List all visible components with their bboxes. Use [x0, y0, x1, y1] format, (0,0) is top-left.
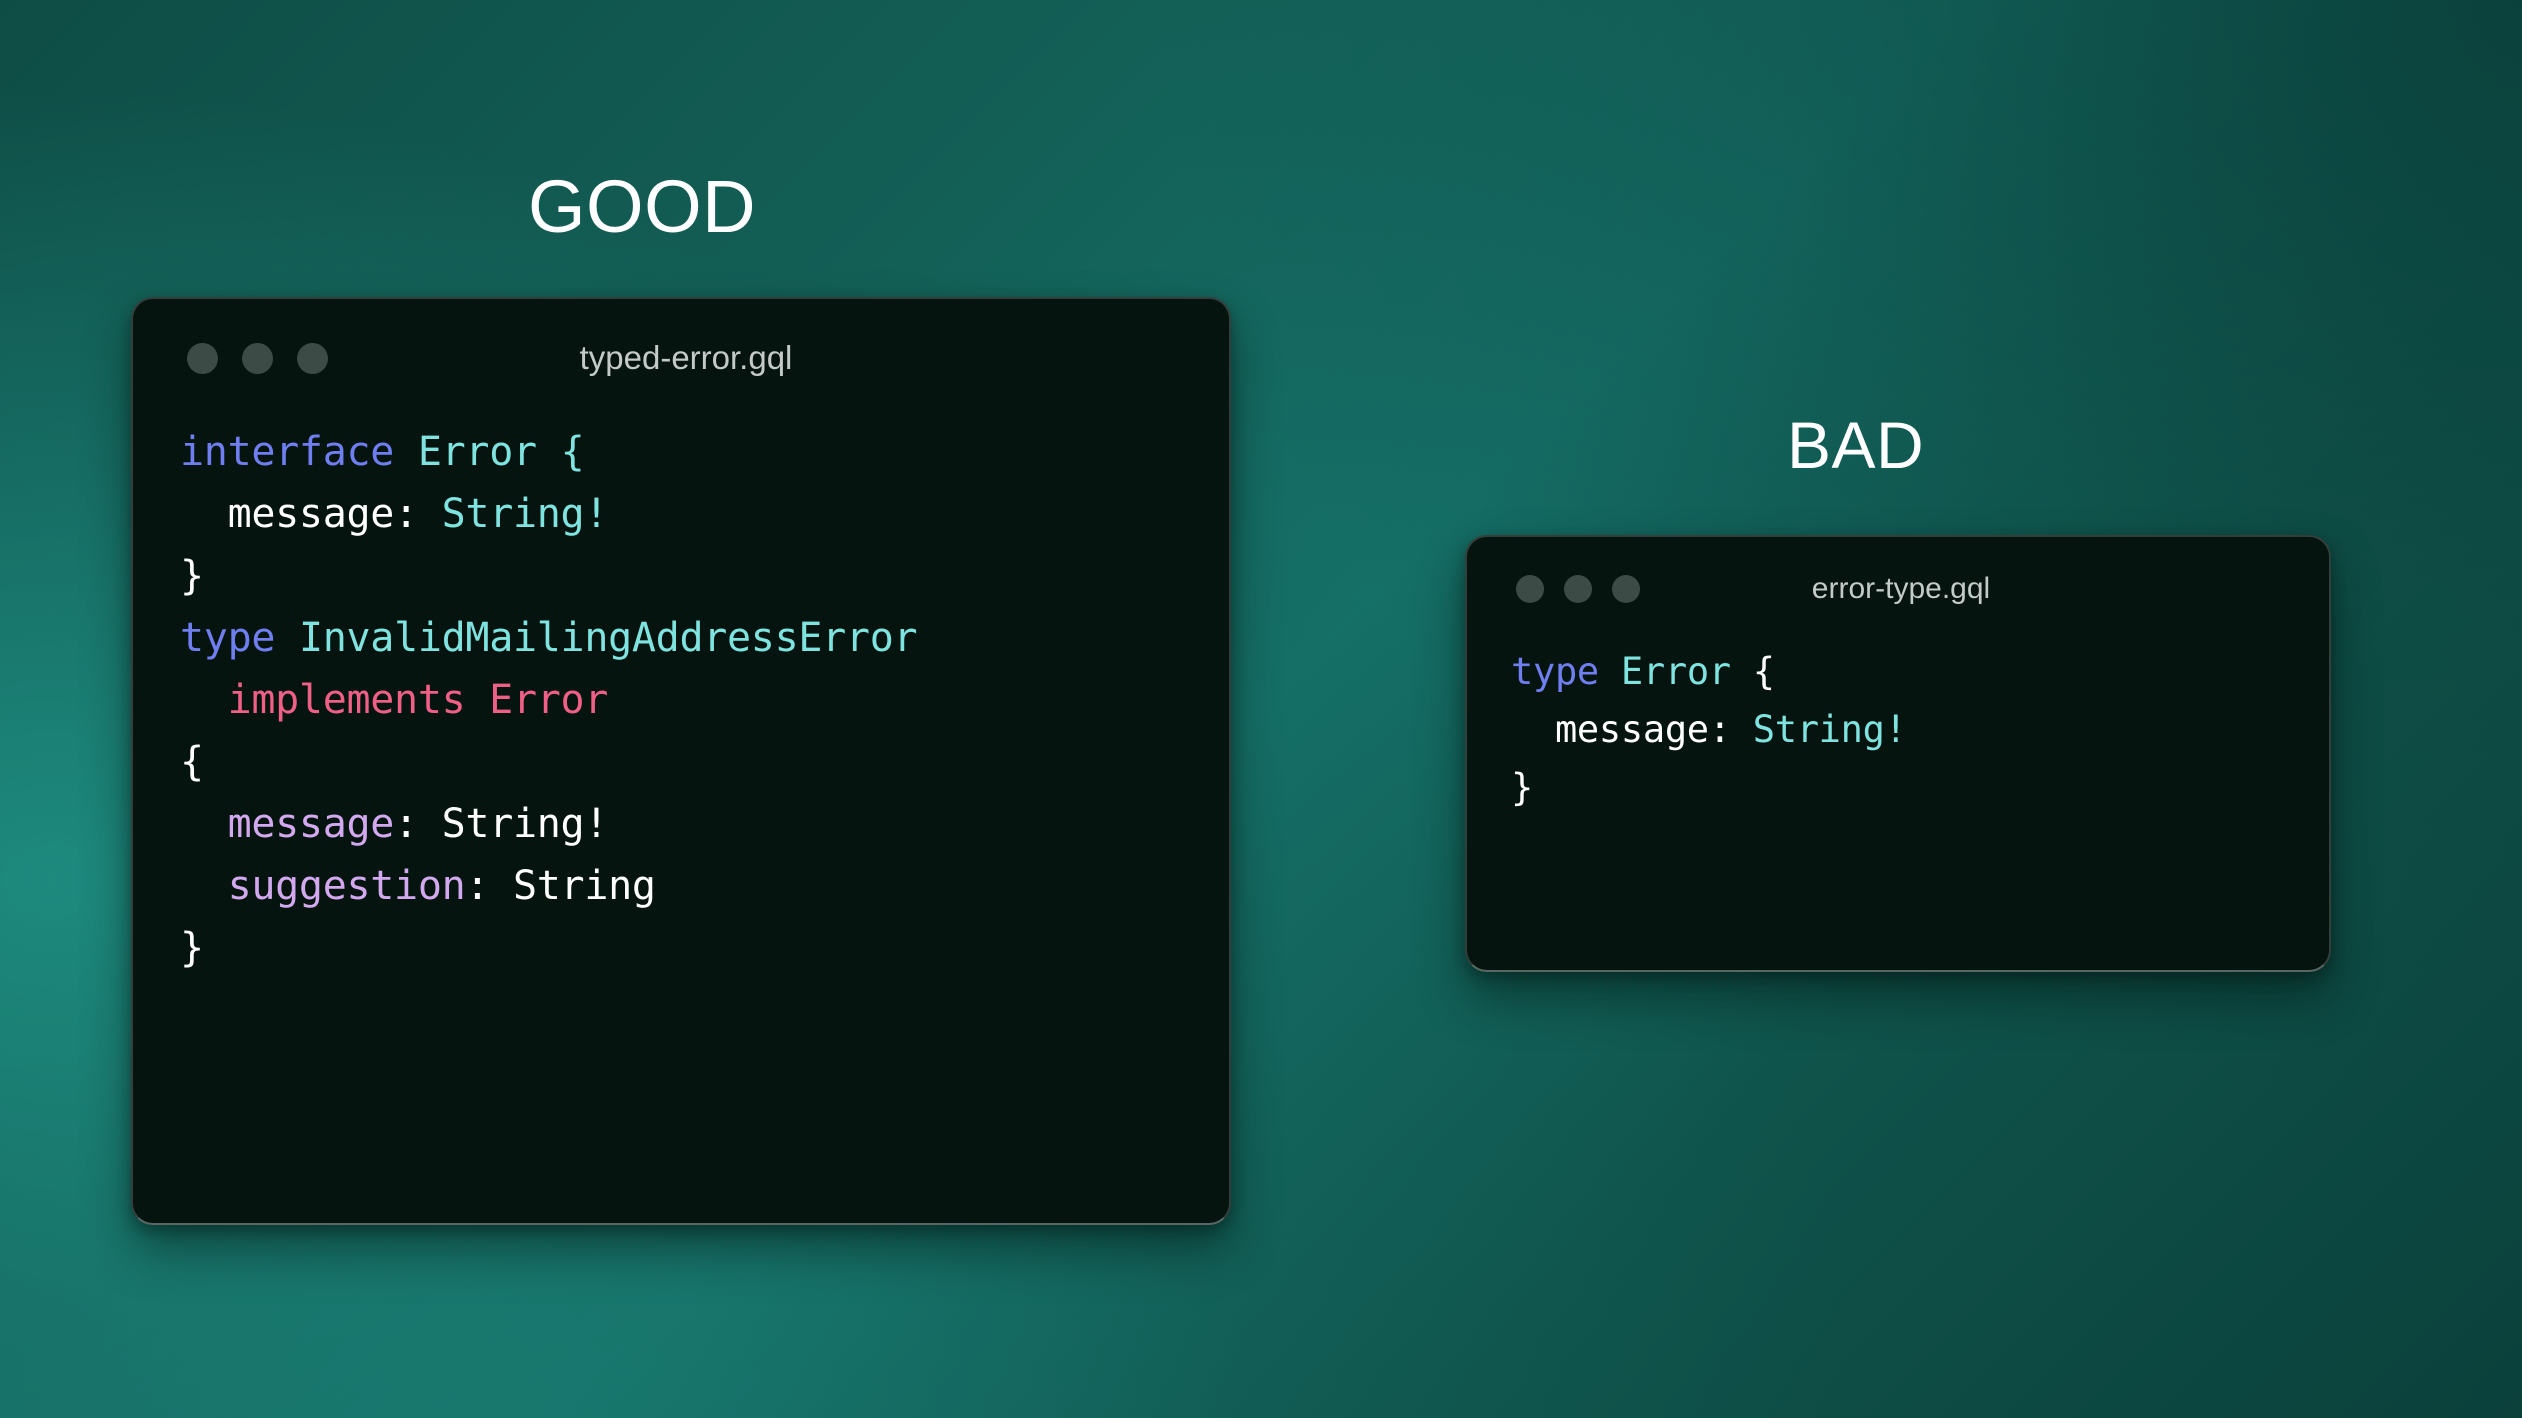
- code-token: [180, 677, 228, 723]
- code-token: [180, 801, 228, 847]
- code-token: String!: [442, 491, 608, 537]
- code-token: [1599, 650, 1621, 693]
- code-token: message: [228, 491, 394, 537]
- code-token: String!: [1753, 708, 1907, 751]
- window-close-dot[interactable]: [1516, 575, 1544, 603]
- window-titlebar-bad: error-type.gql: [1467, 537, 2329, 641]
- code-line: type Error {: [1511, 643, 2329, 701]
- window-minimize-dot[interactable]: [242, 343, 273, 374]
- code-token: InvalidMailingAddressError: [299, 615, 917, 661]
- code-line: }: [180, 545, 1229, 607]
- code-token: message: [1555, 708, 1709, 751]
- code-token: String!: [442, 801, 608, 847]
- code-token: [1731, 650, 1753, 693]
- code-line: suggestion: String: [180, 855, 1229, 917]
- code-token: [180, 863, 228, 909]
- code-line: }: [180, 917, 1229, 979]
- comparison-stage: GOOD BAD typed-error.gql interface Error…: [0, 0, 2522, 1418]
- code-token: [275, 615, 299, 661]
- window-close-dot[interactable]: [187, 343, 218, 374]
- code-line: type InvalidMailingAddressError: [180, 607, 1229, 669]
- code-token: }: [1511, 766, 1533, 809]
- code-line: message: String!: [180, 483, 1229, 545]
- code-token: {: [561, 429, 585, 475]
- code-block-bad: type Error { message: String!}: [1467, 641, 2329, 817]
- code-token: Error: [418, 429, 537, 475]
- window-minimize-dot[interactable]: [1564, 575, 1592, 603]
- code-block-good: interface Error { message: String!}type …: [133, 417, 1229, 979]
- window-controls-bad: [1516, 575, 1640, 603]
- code-token: [394, 429, 418, 475]
- code-line: message: String!: [1511, 701, 2329, 759]
- code-token: :: [465, 863, 513, 909]
- code-line: implements Error: [180, 669, 1229, 731]
- code-token: suggestion: [228, 863, 466, 909]
- code-token: }: [180, 925, 204, 971]
- code-token: {: [1753, 650, 1775, 693]
- code-token: type: [180, 615, 275, 661]
- code-line: interface Error {: [180, 421, 1229, 483]
- window-controls-good: [187, 343, 328, 374]
- code-window-good: typed-error.gql interface Error { messag…: [131, 297, 1231, 1225]
- code-line: {: [180, 731, 1229, 793]
- bad-label: BAD: [1787, 412, 1924, 478]
- code-token: type: [1511, 650, 1599, 693]
- code-token: Error: [1621, 650, 1731, 693]
- code-token: [180, 491, 228, 537]
- code-token: {: [180, 739, 204, 785]
- code-token: [537, 429, 561, 475]
- code-token: message: [228, 801, 394, 847]
- code-token: }: [180, 553, 204, 599]
- code-line: message: String!: [180, 793, 1229, 855]
- good-label: GOOD: [528, 170, 756, 244]
- code-token: String: [513, 863, 656, 909]
- code-token: implements Error: [228, 677, 609, 723]
- code-line: }: [1511, 759, 2329, 817]
- window-maximize-dot[interactable]: [1612, 575, 1640, 603]
- code-window-bad: error-type.gql type Error { message: Str…: [1465, 535, 2331, 972]
- code-token: interface: [180, 429, 394, 475]
- code-token: :: [394, 801, 442, 847]
- window-titlebar-good: typed-error.gql: [133, 299, 1229, 417]
- window-maximize-dot[interactable]: [297, 343, 328, 374]
- code-token: [1511, 708, 1555, 751]
- code-token: :: [394, 491, 442, 537]
- code-token: :: [1709, 708, 1753, 751]
